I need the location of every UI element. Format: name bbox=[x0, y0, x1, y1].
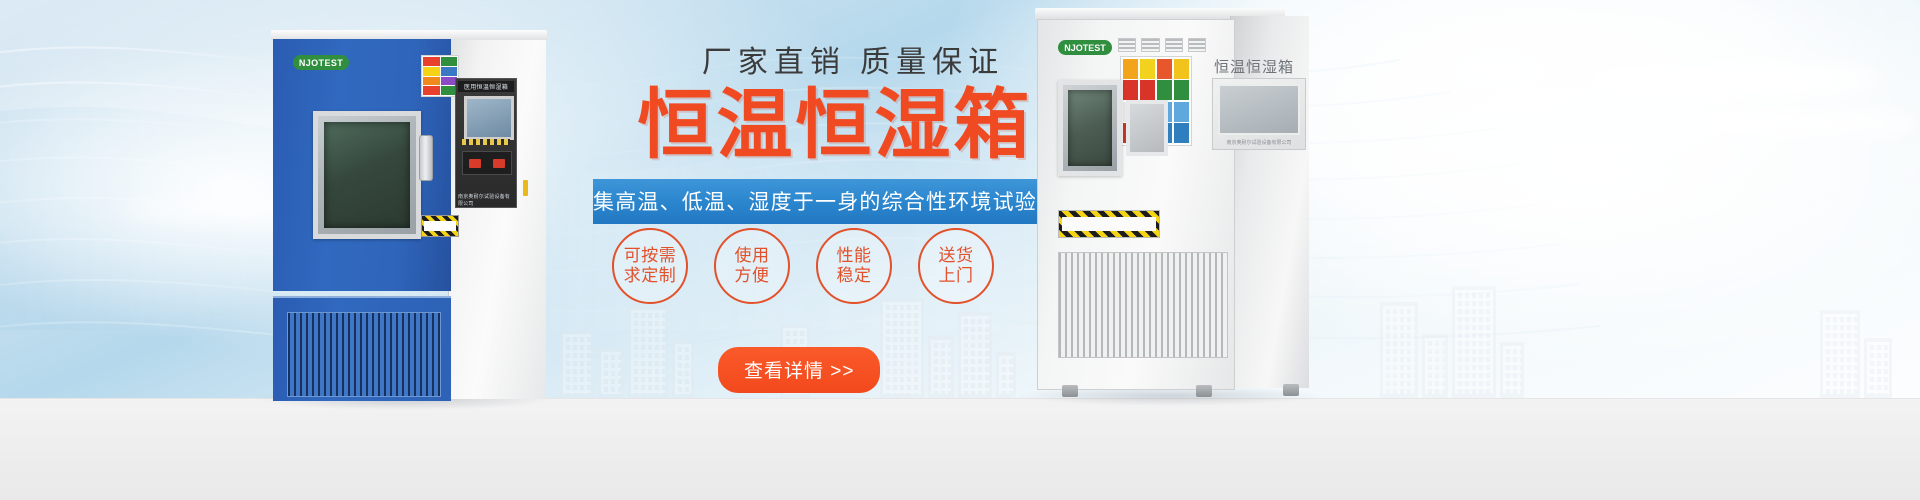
feature-circle-4[interactable]: 送货 上门 bbox=[918, 228, 994, 304]
right-chamber-caster-right bbox=[1196, 385, 1212, 397]
feature-circle-3[interactable]: 性能 稳定 bbox=[816, 228, 892, 304]
headline-group: 厂家直销 质量保证 恒温恒湿箱 集高温、低温、湿度于一身的综合性环境试验仪器 bbox=[575, 46, 1095, 224]
left-chamber-viewing-window bbox=[313, 111, 421, 239]
ground-surface bbox=[0, 398, 1920, 500]
left-chamber-panel-indicators bbox=[462, 151, 512, 175]
feature-circle-list: 可按需 求定制 使用 方便 性能 稳定 送货 上门 bbox=[612, 228, 1032, 304]
left-chamber-hazard-label bbox=[421, 215, 459, 237]
feature-circle-3-line2: 稳定 bbox=[837, 266, 872, 286]
right-chamber-display-unit[interactable]: 南京奥耐尔试验设备有限公司 bbox=[1212, 78, 1306, 150]
feature-circle-3-line1: 性能 bbox=[837, 246, 872, 266]
feature-circle-1-line1: 可按需 bbox=[624, 246, 677, 266]
cloud-2 bbox=[1680, 110, 1920, 136]
right-chamber-caster-left bbox=[1062, 385, 1078, 397]
left-chamber-panel-button-row[interactable] bbox=[462, 139, 510, 145]
left-chamber-side-marker bbox=[523, 180, 528, 196]
left-chamber-door-handle bbox=[419, 135, 433, 181]
tagline: 厂家直销 质量保证 bbox=[611, 46, 1095, 79]
right-chamber-small-door bbox=[1126, 100, 1168, 156]
left-chamber-warning-sticker bbox=[421, 55, 459, 97]
left-chamber-window-glass bbox=[324, 122, 410, 228]
left-chamber-panel-title: 医用恒温恒湿箱 bbox=[458, 81, 514, 92]
left-chamber-lower-panel bbox=[273, 296, 451, 401]
promo-banner: NJOTEST 医用恒温恒湿箱 bbox=[0, 0, 1920, 500]
page-title: 恒温恒湿箱 bbox=[575, 85, 1095, 167]
njotest-logo-right: NJOTEST bbox=[1058, 40, 1112, 55]
right-chamber-window-glass bbox=[1068, 90, 1112, 166]
right-chamber-display-screen bbox=[1218, 84, 1300, 135]
feature-circle-2-line1: 使用 bbox=[735, 246, 770, 266]
left-chamber-vent-grille bbox=[287, 312, 441, 397]
left-chamber-control-panel: 医用恒温恒湿箱 南京奥耐尔试验设备有限公司 bbox=[455, 78, 517, 208]
left-chamber-front-panel: NJOTEST bbox=[273, 39, 451, 291]
feature-circle-1-line2: 求定制 bbox=[624, 266, 677, 286]
feature-circle-4-line1: 送货 bbox=[939, 246, 974, 266]
feature-circle-2[interactable]: 使用 方便 bbox=[714, 228, 790, 304]
right-chamber-vent-grille bbox=[1058, 252, 1228, 358]
subtitle-bar: 集高温、低温、湿度于一身的综合性环境试验仪器 bbox=[593, 179, 1065, 224]
njotest-logo-left: NJOTEST bbox=[293, 55, 349, 70]
right-chamber-viewing-window bbox=[1058, 80, 1122, 176]
feature-circle-2-line2: 方便 bbox=[735, 266, 770, 286]
right-chamber-hazard-label bbox=[1058, 210, 1160, 238]
cloud-1 bbox=[1580, 60, 1880, 100]
right-chamber-product-label: 恒温恒湿箱 bbox=[1214, 56, 1300, 76]
right-chamber-top-vents bbox=[1118, 38, 1206, 52]
feature-circle-4-line2: 上门 bbox=[939, 266, 974, 286]
right-chamber-caster-rear bbox=[1283, 384, 1299, 396]
feature-circle-1[interactable]: 可按需 求定制 bbox=[612, 228, 688, 304]
right-chamber-display-footer: 南京奥耐尔试验设备有限公司 bbox=[1218, 138, 1300, 147]
view-details-button[interactable]: 查看详情 >> bbox=[718, 347, 880, 393]
left-chamber-panel-footer: 南京奥耐尔试验设备有限公司 bbox=[458, 196, 514, 204]
product-image-right-chamber: NJOTEST 恒温恒湿箱 南京奥耐尔试验设备有限 bbox=[1025, 8, 1315, 400]
right-chamber-front-panel: NJOTEST 恒温恒湿箱 南京奥耐尔试验设备有限 bbox=[1037, 19, 1235, 390]
product-image-left-chamber: NJOTEST 医用恒温恒湿箱 bbox=[265, 30, 550, 400]
left-chamber-panel-screen[interactable] bbox=[464, 96, 514, 140]
